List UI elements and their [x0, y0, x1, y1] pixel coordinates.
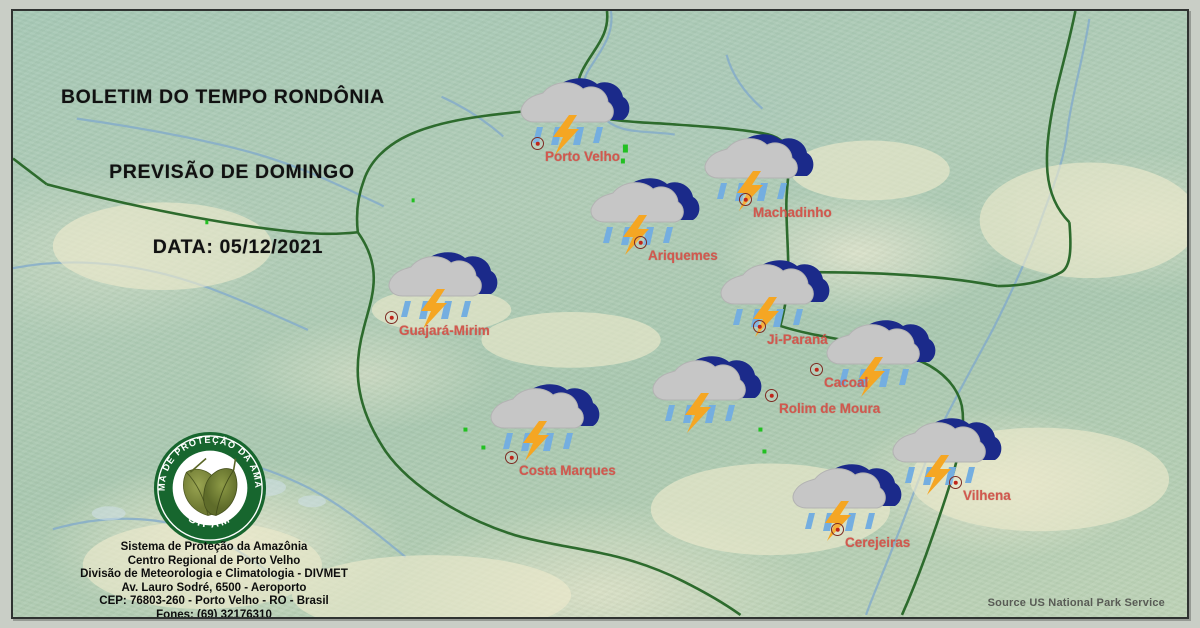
city-label-machadinho: Machadinho	[753, 205, 832, 220]
thunderstorm-icon-graphic	[483, 381, 603, 463]
city-label-porto-velho: Porto Velho	[545, 149, 620, 164]
forecast-icon-guajar-mirim	[381, 249, 501, 331]
city-marker-icon[interactable]	[810, 363, 823, 376]
city-label-rolim-de-moura: Rolim de Moura	[779, 401, 880, 416]
thunderstorm-icon-graphic	[697, 131, 817, 213]
title-line-3: DATA: 05/12/2021	[61, 235, 385, 260]
forecast-icon-ji-paran-	[713, 257, 833, 339]
bulletin-title: BOLETIM DO TEMPO RONDÔNIA PREVISÃO DE DO…	[61, 35, 385, 310]
city-label-cerejeiras: Cerejeiras	[845, 535, 910, 550]
title-line-1: BOLETIM DO TEMPO RONDÔNIA	[61, 85, 385, 110]
footer-line: Fones: (69) 32176310	[49, 609, 379, 619]
sipam-logo-graphic: SISTEMA DE PROTEÇÃO DA AMAZÔNIA SIPAM	[151, 429, 269, 547]
thunderstorm-icon-graphic	[645, 353, 765, 435]
city-label-ariquemes: Ariquemes	[648, 248, 718, 263]
thunderstorm-icon-graphic	[713, 257, 833, 339]
city-label-cacoal: Cacoal	[824, 375, 868, 390]
footer-line: Divisão de Meteorologia e Climatologia -…	[49, 568, 379, 582]
city-marker-icon[interactable]	[949, 476, 962, 489]
forecast-icon-rolim-de-moura	[645, 353, 765, 435]
title-line-2: PREVISÃO DE DOMINGO	[61, 160, 385, 185]
city-marker-icon[interactable]	[765, 389, 778, 402]
map-attribution: Source US National Park Service	[988, 597, 1165, 609]
thunderstorm-icon-graphic	[381, 249, 501, 331]
city-marker-icon[interactable]	[831, 523, 844, 536]
city-label-ji-paran-: Ji-Paraná	[767, 332, 828, 347]
footer-line: Sistema de Proteção da Amazônia	[49, 541, 379, 555]
footer-line: Av. Lauro Sodré, 6500 - Aeroporto	[49, 582, 379, 596]
agency-footer: Sistema de Proteção da AmazôniaCentro Re…	[49, 541, 379, 619]
weather-map-frame: BOLETIM DO TEMPO RONDÔNIA PREVISÃO DE DO…	[11, 9, 1189, 619]
forecast-icon-machadinho	[697, 131, 817, 213]
city-marker-icon[interactable]	[739, 193, 752, 206]
forecast-icon-cerejeiras	[785, 461, 905, 543]
screenshot-root: BOLETIM DO TEMPO RONDÔNIA PREVISÃO DE DO…	[0, 0, 1200, 628]
city-marker-icon[interactable]	[753, 320, 766, 333]
thunderstorm-icon-graphic	[785, 461, 905, 543]
forecast-icon-costa-marques	[483, 381, 603, 463]
city-marker-icon[interactable]	[531, 137, 544, 150]
city-label-vilhena: Vilhena	[963, 488, 1011, 503]
sipam-logo: SISTEMA DE PROTEÇÃO DA AMAZÔNIA SIPAM	[151, 429, 269, 547]
city-label-guajar-mirim: Guajará-Mirim	[399, 323, 490, 338]
city-marker-icon[interactable]	[385, 311, 398, 324]
footer-line: Centro Regional de Porto Velho	[49, 555, 379, 569]
city-marker-icon[interactable]	[505, 451, 518, 464]
city-marker-icon[interactable]	[634, 236, 647, 249]
footer-line: CEP: 76803-260 - Porto Velho - RO - Bras…	[49, 595, 379, 609]
city-label-costa-marques: Costa Marques	[519, 463, 616, 478]
